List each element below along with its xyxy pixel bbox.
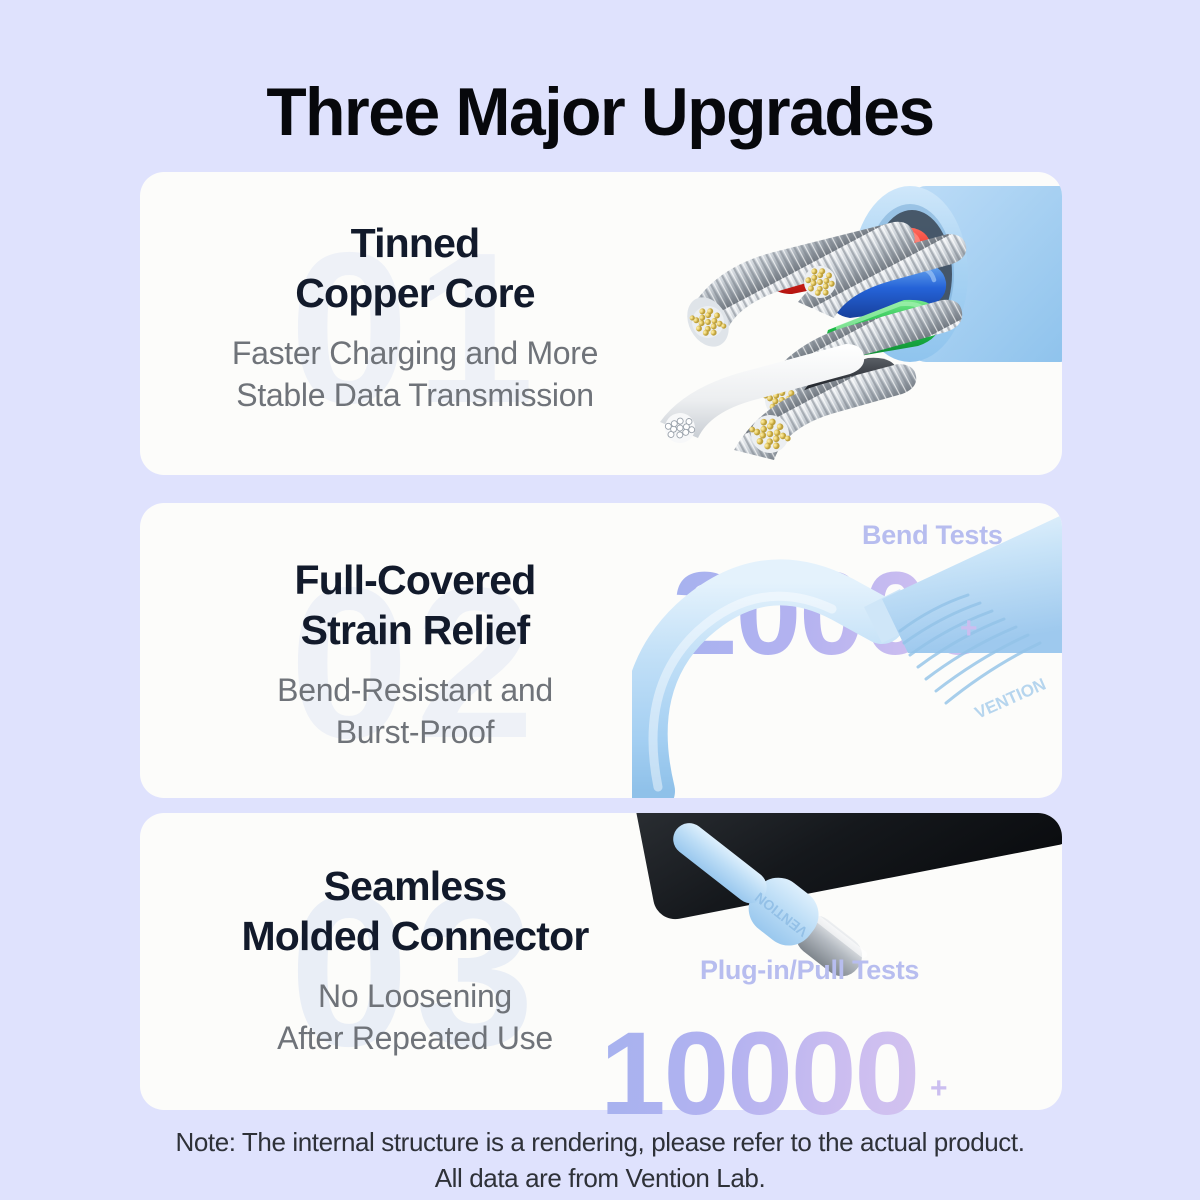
cable-cross-section-image	[642, 172, 1062, 475]
plug-pull-tests-label: Plug-in/Pull Tests	[700, 955, 919, 986]
upgrade-card-tinned-copper-core: 01 Tinned Copper Core Faster Charging an…	[140, 172, 1062, 475]
card-subtitle: No Loosening After Repeated Use	[180, 975, 650, 1059]
card-subtitle: Bend-Resistant and Burst-Proof	[180, 669, 650, 753]
card-heading: Tinned Copper Core	[180, 218, 650, 318]
plug-pull-tests-suffix: +	[930, 1072, 948, 1106]
page-title: Three Major Upgrades	[18, 72, 1182, 152]
card-heading: Full-Covered Strain Relief	[180, 555, 650, 655]
card-text-block: Full-Covered Strain Relief Bend-Resistan…	[180, 555, 650, 753]
card-subtitle: Faster Charging and More Stable Data Tra…	[180, 332, 650, 416]
bend-tests-label: Bend Tests	[862, 520, 1003, 551]
card-heading: Seamless Molded Connector	[180, 861, 650, 961]
bend-tests-suffix: +	[960, 612, 978, 646]
card-text-block: Seamless Molded Connector No Loosening A…	[180, 861, 650, 1059]
brand-text: VENTION	[972, 675, 1049, 723]
card-text-block: Tinned Copper Core Faster Charging and M…	[180, 218, 650, 416]
